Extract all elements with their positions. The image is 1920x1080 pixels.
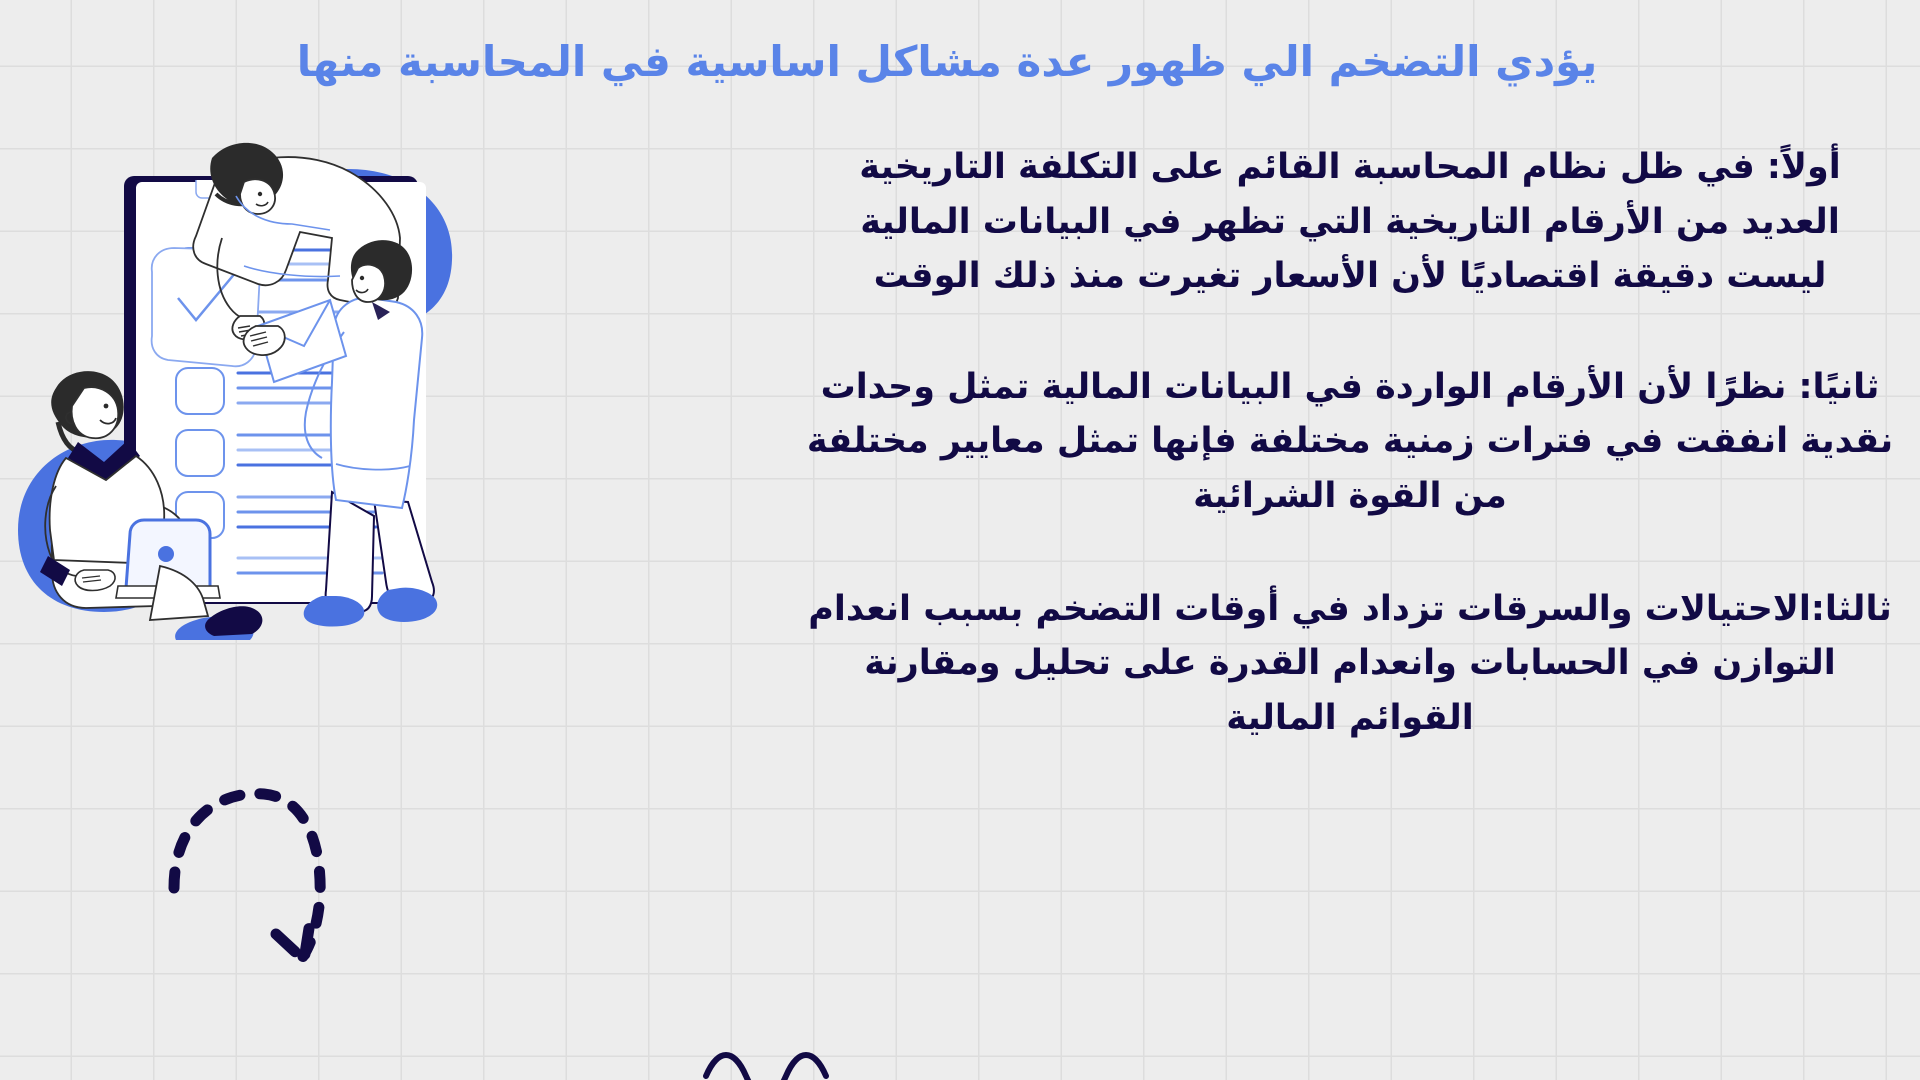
laptop-logo-dot [158,546,174,562]
page-title: يؤدي التضخم الي ظهور عدة مشاكل اساسية في… [0,36,1894,89]
arrowhead [276,922,310,960]
paragraph-third: ثالثا:الاحتيالات والسرقات تزداد في أوقات… [800,582,1900,746]
body-text-column: أولاً: في ظل نظام المحاسبة القائم على ال… [800,140,1900,745]
teamwork-checklist-illustration [0,120,500,640]
paragraph-second: ثانيًا: نظرًا لأن الأرقام الواردة في الب… [800,360,1900,524]
wavy-line-squiggle [700,1042,900,1080]
dashed-curved-arrow [160,780,410,980]
paragraph-first: أولاً: في ظل نظام المحاسبة القائم على ال… [800,140,1900,304]
